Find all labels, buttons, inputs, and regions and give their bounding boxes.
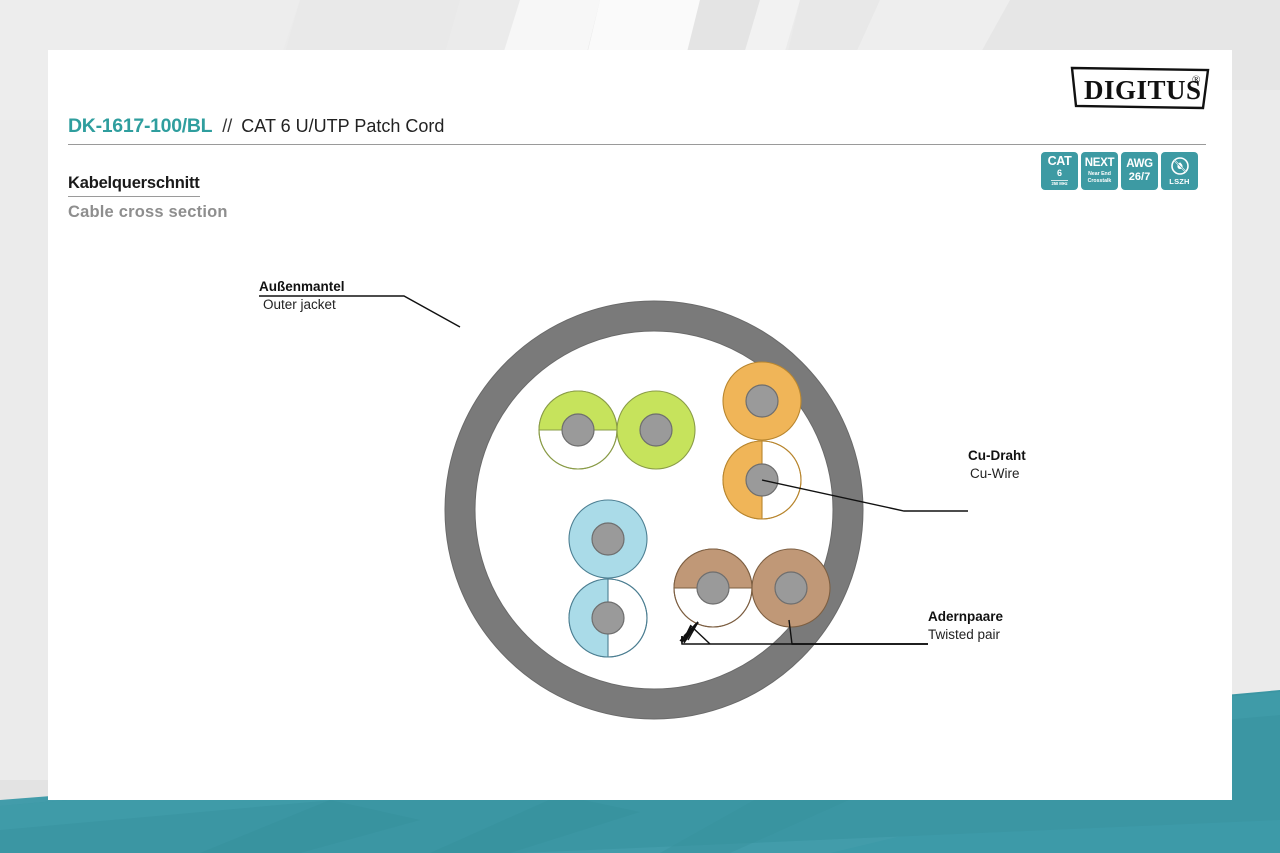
cable-cross-section-diagram: Außenmantel Outer jacket Cu-Draht Cu-Wir… bbox=[48, 50, 1232, 800]
copper-core bbox=[592, 523, 624, 555]
brown-striped-wire bbox=[674, 549, 752, 627]
outer-jacket-label-en: Outer jacket bbox=[263, 297, 336, 312]
outer-jacket-label-de: Außenmantel bbox=[259, 279, 345, 294]
cu-wire-label-en: Cu-Wire bbox=[970, 466, 1020, 481]
cu-wire-label-de: Cu-Draht bbox=[968, 448, 1026, 463]
blue-striped-wire bbox=[569, 579, 647, 657]
orange-solid-wire bbox=[723, 362, 801, 440]
green-striped-wire bbox=[539, 391, 617, 469]
twisted-pair-label-de: Adernpaare bbox=[928, 609, 1004, 624]
blue-solid-wire bbox=[569, 500, 647, 578]
outer-jacket-callout: Außenmantel Outer jacket bbox=[259, 279, 460, 327]
twisted-pair-label-en: Twisted pair bbox=[928, 627, 1001, 642]
outer-jacket bbox=[445, 301, 863, 719]
green-solid-wire bbox=[617, 391, 695, 469]
slide-canvas: DIGITUS ® DK-1617-100/BL // CAT 6 U/UTP … bbox=[0, 0, 1280, 853]
copper-core bbox=[697, 572, 729, 604]
copper-core bbox=[592, 602, 624, 634]
copper-core bbox=[640, 414, 672, 446]
copper-core bbox=[562, 414, 594, 446]
copper-core bbox=[775, 572, 807, 604]
content-panel: DIGITUS ® DK-1617-100/BL // CAT 6 U/UTP … bbox=[48, 50, 1232, 800]
brown-solid-wire bbox=[752, 549, 830, 627]
copper-core bbox=[746, 385, 778, 417]
